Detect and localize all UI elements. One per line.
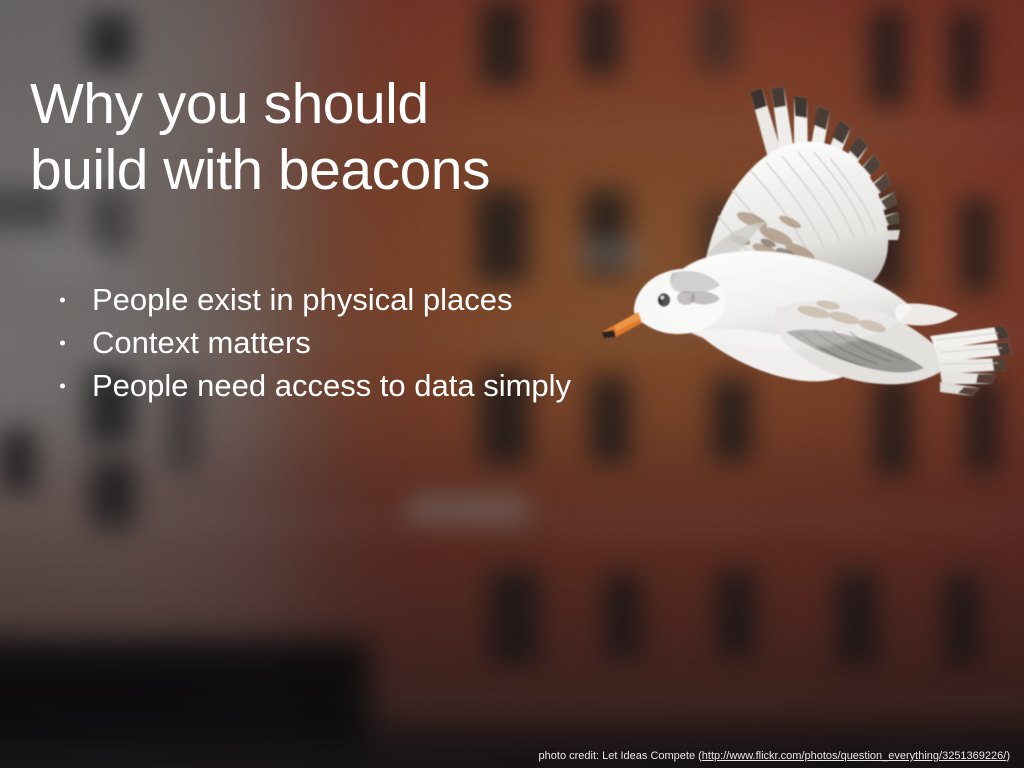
photo-credit-prefix: photo credit: Let Ideas Compete (	[539, 750, 702, 762]
bullet-text: Context matters	[92, 325, 311, 360]
bullet-list: People exist in physical places Context …	[56, 278, 571, 407]
list-item: People need access to data simply	[56, 364, 571, 407]
photo-credit: photo credit: Let Ideas Compete (http://…	[0, 749, 1010, 763]
bullet-dot-icon	[60, 297, 65, 302]
bullet-text: People need access to data simply	[92, 368, 571, 403]
photo-credit-suffix: )	[1006, 750, 1010, 762]
bullet-dot-icon	[60, 340, 65, 345]
slide-title: Why you should build with beacons	[30, 71, 710, 203]
list-item: People exist in physical places	[56, 278, 571, 321]
photo-credit-link[interactable]: http://www.flickr.com/photos/question_ev…	[702, 750, 1007, 762]
presentation-slide: Why you should build with beacons People…	[0, 0, 1024, 768]
bullet-dot-icon	[60, 383, 65, 388]
list-item: Context matters	[56, 321, 571, 364]
bullet-text: People exist in physical places	[92, 282, 512, 317]
